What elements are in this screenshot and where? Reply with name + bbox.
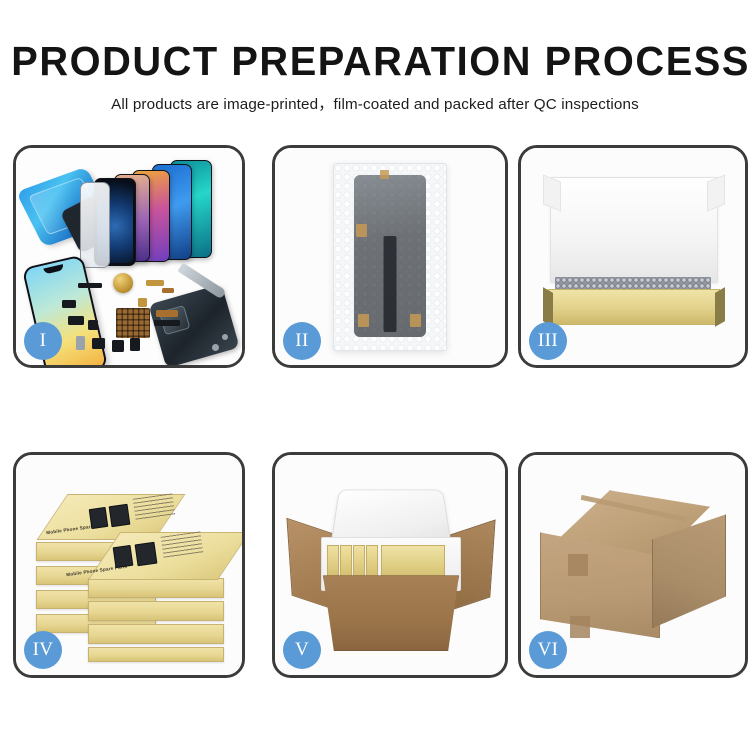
process-step-grid: I II III: [13, 145, 748, 678]
carton-body-graphic: [323, 575, 459, 651]
step-panel-6[interactable]: VI: [518, 452, 748, 678]
page-header: PRODUCT PREPARATION PROCESS All products…: [0, 0, 750, 114]
sealed-carton-graphic: [540, 490, 726, 648]
step-badge-1: I: [24, 322, 62, 360]
page-subtitle: All products are image-printed，film-coat…: [0, 83, 750, 114]
page-title: PRODUCT PREPARATION PROCESS: [11, 0, 739, 83]
step-panel-1[interactable]: I: [13, 145, 245, 368]
step-badge-2: II: [283, 322, 321, 360]
open-carton-graphic: [295, 479, 485, 659]
bubble-wrap-bag-graphic: [333, 163, 447, 351]
step-badge-4: IV: [24, 631, 62, 669]
step-badge-5: V: [283, 631, 321, 669]
step-badge-3: III: [529, 322, 567, 360]
step-panel-5[interactable]: V: [272, 452, 508, 678]
step-panel-2[interactable]: II: [272, 145, 508, 368]
kraft-mailer-box-graphic: [542, 177, 724, 337]
step-panel-3[interactable]: III: [518, 145, 748, 368]
step-panel-4[interactable]: Mobile Phone Spare Parts Mobile Phone Sp…: [13, 452, 245, 678]
box-stack-graphic: Mobile Phone Spare Parts Mobile Phone Sp…: [30, 470, 228, 660]
step-badge-6: VI: [529, 631, 567, 669]
